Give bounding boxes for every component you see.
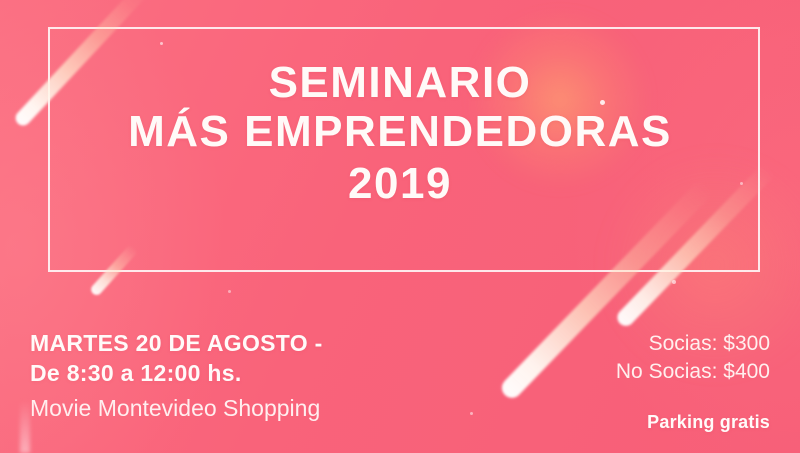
event-time: De 8:30 a 12:00 hs. (30, 358, 323, 388)
event-details-block: MARTES 20 DE AGOSTO - De 8:30 a 12:00 hs… (30, 328, 323, 423)
pricing-block: Socias: $300 No Socias: $400 (616, 330, 770, 386)
star-icon-2 (160, 42, 163, 45)
light-stripe-decoration (20, 400, 30, 453)
event-venue: Movie Montevideo Shopping (30, 393, 323, 423)
star-icon-4 (228, 290, 231, 293)
title-line-year: 2019 (0, 159, 800, 208)
star-icon-5 (672, 280, 676, 284)
star-icon-6 (470, 412, 473, 415)
title-line-seminario: SEMINARIO (0, 58, 800, 107)
page-title: SEMINARIO MÁS EMPRENDEDORAS 2019 (0, 58, 800, 208)
price-members: Socias: $300 (616, 330, 770, 358)
price-non-members: No Socias: $400 (616, 358, 770, 386)
event-date: MARTES 20 DE AGOSTO - (30, 328, 323, 358)
parking-note: Parking gratis (647, 412, 770, 433)
title-line-mas-emprendedoras: MÁS EMPRENDEDORAS (0, 107, 800, 156)
event-poster: SEMINARIO MÁS EMPRENDEDORAS 2019 MARTES … (0, 0, 800, 453)
